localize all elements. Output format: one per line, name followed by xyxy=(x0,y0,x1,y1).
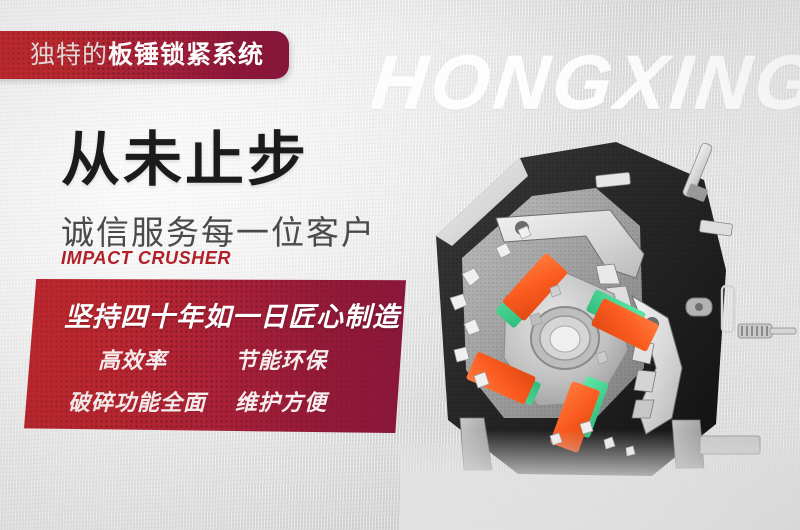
tension-spring xyxy=(738,324,796,338)
page-title: 从未止步 xyxy=(61,112,309,197)
hongxing-watermark: HONGXING xyxy=(367,40,800,127)
tag-emphasis: 板锤锁紧系统 xyxy=(108,41,264,69)
tag-prefix: 独特的 xyxy=(30,41,108,69)
feature-item-efficiency: 高效率 xyxy=(98,343,167,375)
subtitle-english: IMPACT CRUSHER xyxy=(61,248,231,269)
feature-panel-headline: 坚持四十年如一日匠心制造 xyxy=(64,295,400,334)
adjusting-rod xyxy=(682,142,713,202)
unique-feature-tag: 独特的板锤锁紧系统 xyxy=(0,31,289,79)
feature-item-eco: 节能环保 xyxy=(235,343,327,375)
pivot-bracket xyxy=(686,298,712,316)
feature-panel: 坚持四十年如一日匠心制造 高效率 节能环保 破碎功能全面 维护方便 xyxy=(24,279,406,433)
feature-item-maintenance: 维护方便 xyxy=(235,385,327,417)
tag-text: 独特的板锤锁紧系统 xyxy=(30,31,264,79)
feature-item-crushing: 破碎功能全面 xyxy=(68,385,206,417)
subtitle-chinese: 诚信服务每一位客户 xyxy=(61,206,376,254)
impact-crusher-illustration xyxy=(400,118,800,498)
promo-banner: HONGXING xyxy=(0,0,800,530)
